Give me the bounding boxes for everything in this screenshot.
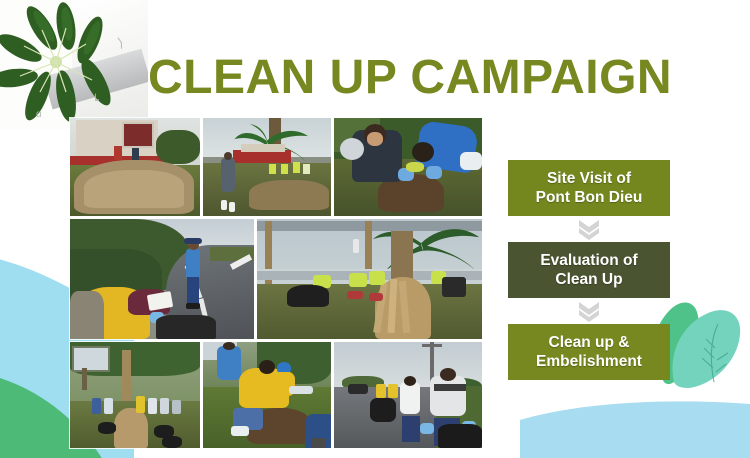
flow-step-3-line2: Embelishment [536,353,642,370]
photo-collage [70,118,482,448]
page-title: CLEAN UP CAMPAIGN [148,52,710,104]
collage-photo-2 [203,118,331,216]
paper-corner-mark: ┕ [92,96,99,107]
flow-step-2-line2: Clean Up [555,271,622,288]
collage-photo-6 [70,342,200,448]
collage-photo-1 [70,118,200,216]
collage-photo-4 [70,219,254,339]
collage-photo-5 [257,219,482,339]
flow-step-1-label: Site Visit of Pont Bon Dieu [536,169,643,207]
schefflera-leaf-photo: ⟩ ┕ α [0,0,148,130]
flow-step-2[interactable]: Evaluation of Clean Up [508,242,670,298]
collage-photo-7 [203,342,331,448]
leaf-graphic [0,0,148,130]
flow-arrow-2 [508,298,670,324]
flow-step-1-line1: Site Visit of [547,170,631,187]
flow-step-3-label: Clean up & Embelishment [536,333,642,371]
collage-photo-3 [334,118,482,216]
process-flow: Site Visit of Pont Bon Dieu Evaluation o… [508,160,670,380]
slide-canvas: ⟩ ┕ α CLEAN UP CAMPAIGN [0,0,750,458]
paper-text-mark: α [36,110,45,120]
flow-arrow-1 [508,216,670,242]
double-chevron-down-icon [576,218,602,240]
double-chevron-down-icon [576,300,602,322]
flow-step-2-label: Evaluation of Clean Up [540,251,637,289]
flow-step-2-line1: Evaluation of [540,252,637,269]
collage-photo-8 [334,342,482,448]
flow-step-3-line1: Clean up & [549,334,630,351]
wave-decoration-bottom-right [520,386,750,458]
flow-step-1-line2: Pont Bon Dieu [536,189,643,206]
flow-step-3[interactable]: Clean up & Embelishment [508,324,670,380]
flow-step-1[interactable]: Site Visit of Pont Bon Dieu [508,160,670,216]
